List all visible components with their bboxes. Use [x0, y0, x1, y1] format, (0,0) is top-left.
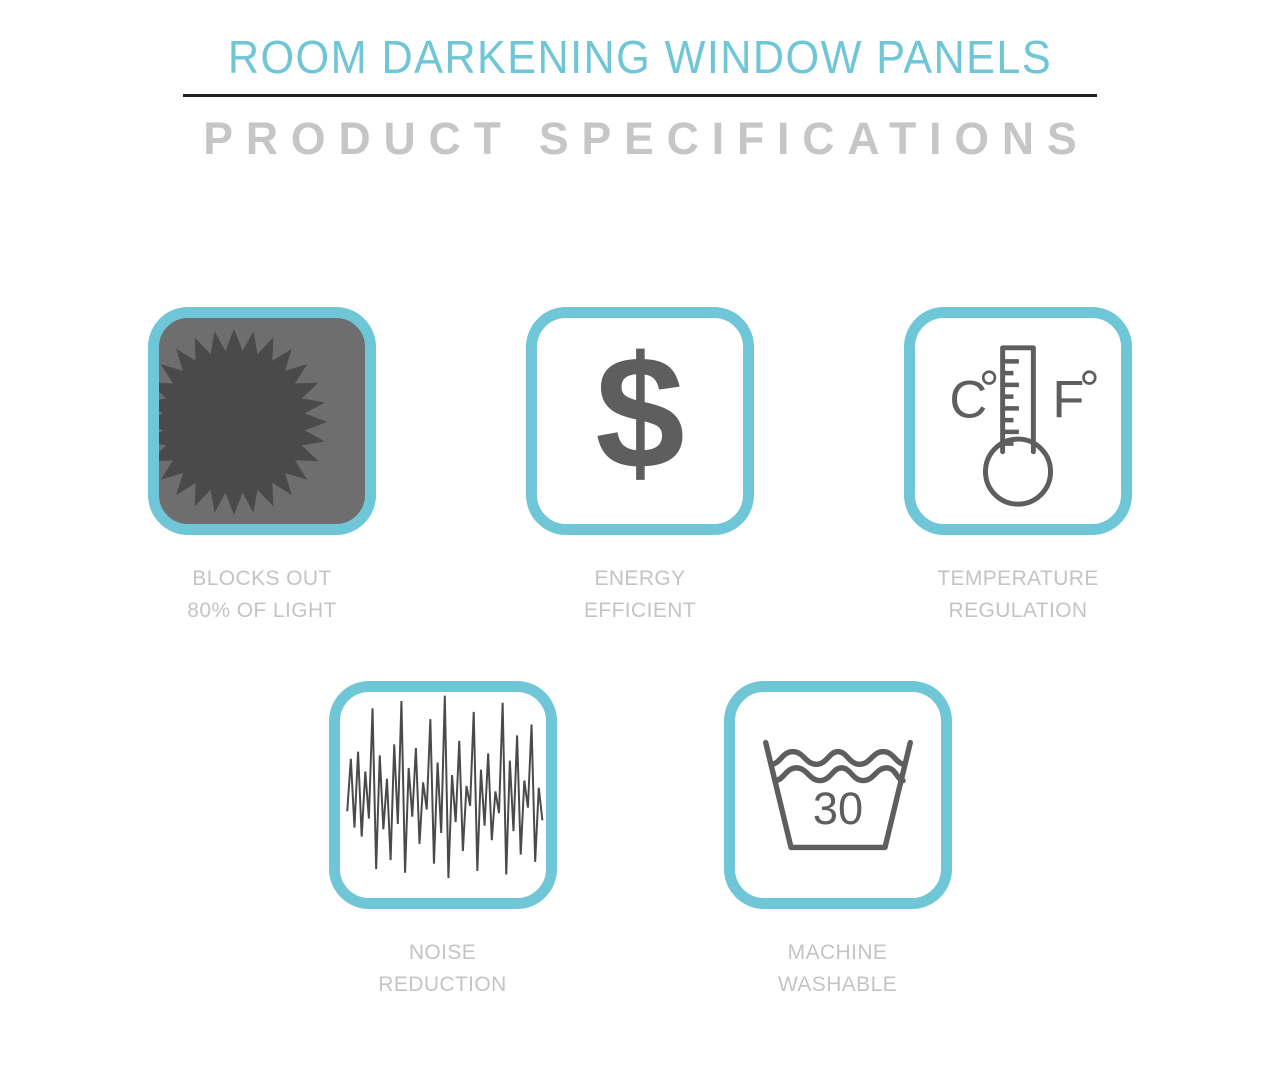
wash-basin-icon: 30: [735, 692, 941, 898]
sun-blocked-icon: [159, 318, 365, 524]
page-title: ROOM DARKENING WINDOW PANELS: [38, 34, 1241, 80]
sound-wave-icon: [340, 692, 546, 898]
feature-row-1: BLOCKS OUT 80% OF LIGHT $ ENERGY EFFICIE…: [0, 307, 1280, 627]
page-header: ROOM DARKENING WINDOW PANELS PRODUCT SPE…: [0, 0, 1280, 161]
caption-line-2: REGULATION: [937, 595, 1099, 627]
card-temperature-regulation[interactable]: C F: [904, 307, 1132, 535]
caption-line-1: BLOCKS OUT: [192, 567, 331, 590]
card-noise-reduction[interactable]: [329, 681, 557, 909]
caption-energy-efficient: ENERGY EFFICIENT: [584, 563, 696, 627]
dollar-sign-icon: $: [537, 318, 743, 524]
feature-row-2: NOISE REDUCTION 30 MACHINE WASHABLE: [0, 681, 1280, 1001]
card-blocks-out-light[interactable]: [148, 307, 376, 535]
feature-noise-reduction: NOISE REDUCTION: [318, 681, 568, 1001]
feature-temperature-regulation: C F TEMPERATURE REGULATION: [893, 307, 1143, 627]
caption-line-1: MACHINE: [788, 941, 888, 964]
thermometer-icon: C F: [915, 318, 1121, 524]
fahrenheit-label: F: [1052, 371, 1084, 429]
feature-blocks-out-light: BLOCKS OUT 80% OF LIGHT: [137, 307, 387, 627]
caption-line-2: EFFICIENT: [584, 595, 696, 627]
caption-line-1: NOISE: [409, 941, 476, 964]
celsius-label: C: [949, 371, 987, 429]
caption-temperature-regulation: TEMPERATURE REGULATION: [937, 563, 1099, 627]
svg-text:$: $: [595, 323, 684, 503]
caption-machine-washable: MACHINE WASHABLE: [778, 937, 897, 1001]
caption-line-2: WASHABLE: [778, 969, 897, 1001]
page-subtitle: PRODUCT SPECIFICATIONS: [6, 116, 1273, 161]
caption-noise-reduction: NOISE REDUCTION: [378, 937, 506, 1001]
caption-line-1: TEMPERATURE: [937, 567, 1099, 590]
caption-line-1: ENERGY: [594, 567, 685, 590]
caption-line-2: REDUCTION: [378, 969, 506, 1001]
caption-blocks-out-light: BLOCKS OUT 80% OF LIGHT: [187, 563, 337, 627]
feature-machine-washable: 30 MACHINE WASHABLE: [713, 681, 963, 1001]
header-divider: [183, 94, 1097, 97]
card-energy-efficient[interactable]: $: [526, 307, 754, 535]
feature-energy-efficient: $ ENERGY EFFICIENT: [515, 307, 765, 627]
card-machine-washable[interactable]: 30: [724, 681, 952, 909]
wash-temperature-label: 30: [812, 783, 862, 834]
caption-line-2: 80% OF LIGHT: [187, 595, 337, 627]
